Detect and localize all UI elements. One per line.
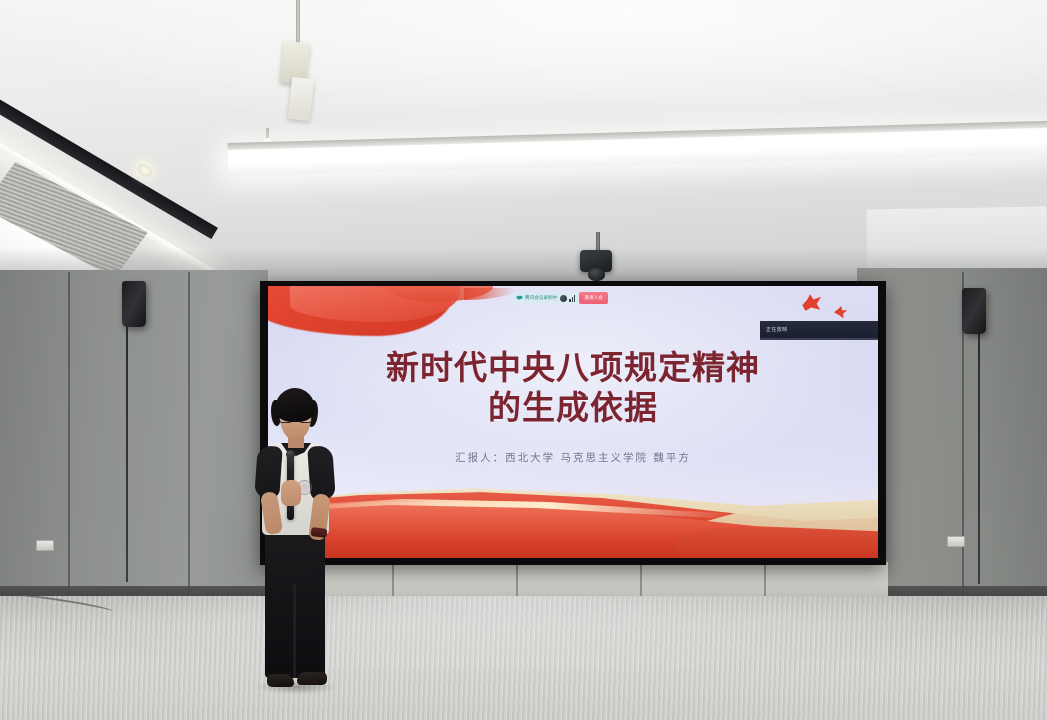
signal-bars-icon bbox=[569, 295, 575, 302]
presenter bbox=[247, 388, 339, 700]
slide-title-line1: 新时代中央八项规定精神 bbox=[386, 348, 760, 387]
wall-speaker-left bbox=[122, 281, 146, 327]
screen-share-icon bbox=[516, 295, 523, 302]
speaker-cable-right bbox=[978, 330, 980, 584]
presenter-wristband bbox=[311, 527, 328, 538]
ptz-camera-lens bbox=[588, 268, 605, 281]
presenter-shoe-left bbox=[267, 674, 294, 687]
cabinet-seam bbox=[764, 562, 766, 596]
wall-speaker-right bbox=[962, 288, 986, 334]
wall-outlet-left bbox=[36, 540, 54, 551]
cabinet-seam bbox=[392, 562, 394, 596]
presenter-hair bbox=[275, 388, 315, 422]
slide-subtitle: 汇报人：西北大学 马克思主义学院 魏平方 bbox=[268, 450, 878, 465]
conference-toolbar[interactable]: 腾讯会议录制中 邀请入会 bbox=[514, 292, 610, 304]
presenter-hand bbox=[281, 480, 301, 506]
status-bar-underline bbox=[760, 338, 878, 340]
ceiling-fixture-housing-lower bbox=[288, 77, 314, 121]
presenter-sleeve-left bbox=[254, 445, 283, 499]
globe-icon bbox=[560, 295, 567, 302]
speaker-cable-left bbox=[126, 312, 128, 582]
wall-seam bbox=[68, 272, 70, 594]
cabinet-seam bbox=[640, 562, 642, 596]
cabinet-seam bbox=[516, 562, 518, 596]
ceiling-mount-rod bbox=[296, 0, 300, 46]
slide-title: 新时代中央八项规定精神 的生成依据 bbox=[268, 348, 878, 428]
presenting-status-bar: 正在放映 bbox=[760, 321, 878, 338]
wall-seam bbox=[188, 272, 190, 594]
slide-title-line2: 的生成依据 bbox=[268, 388, 878, 428]
presenting-status-label: 正在放映 bbox=[760, 326, 788, 333]
presenter-sleeve-right bbox=[307, 445, 336, 501]
conference-app-label: 腾讯会议录制中 bbox=[525, 295, 560, 301]
conference-room-scene: 腾讯会议录制中 邀请入会 正在放映 新时代中央八项规定精神 的生成依据 汇报人：… bbox=[0, 0, 1047, 720]
invite-button-label: 邀请入会 bbox=[584, 295, 602, 301]
wall-outlet bbox=[947, 536, 965, 547]
under-screen-cabinet bbox=[268, 562, 888, 596]
led-video-wall[interactable]: 腾讯会议录制中 邀请入会 正在放映 新时代中央八项规定精神 的生成依据 汇报人：… bbox=[268, 286, 878, 558]
presenter-pants-seam bbox=[293, 584, 296, 678]
invite-button[interactable]: 邀请入会 bbox=[579, 292, 607, 304]
floor-light-sheen bbox=[0, 596, 1047, 720]
presenter-shoe-right bbox=[297, 672, 327, 685]
